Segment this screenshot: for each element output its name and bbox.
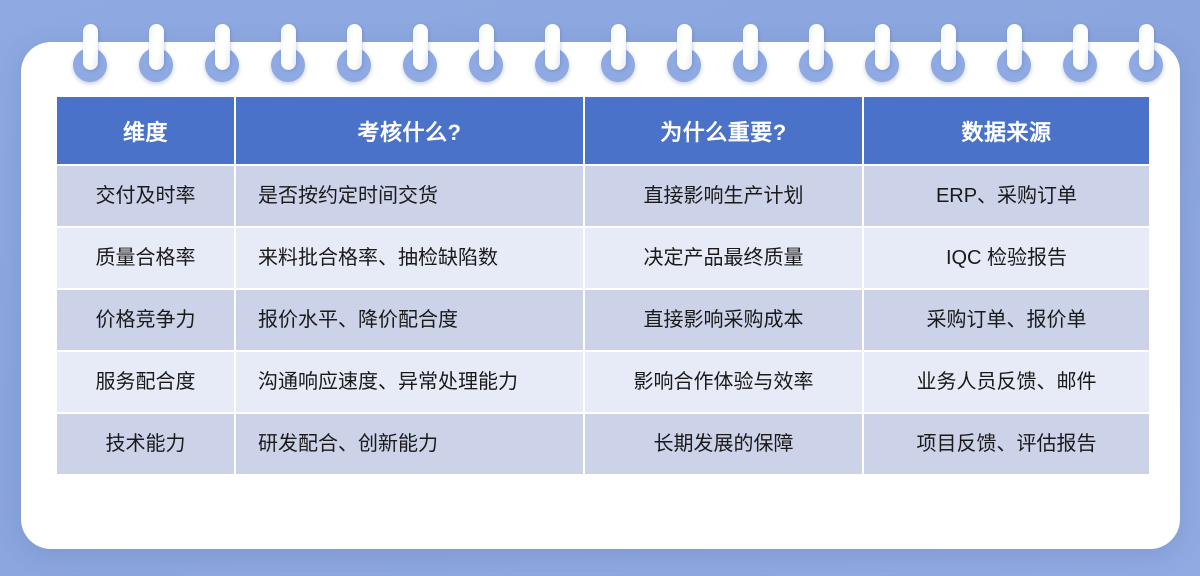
table-row: 质量合格率 来料批合格率、抽检缺陷数 决定产品最终质量 IQC 检验报告 [57, 228, 1149, 288]
cell-source: IQC 检验报告 [864, 228, 1149, 288]
cell-what: 来料批合格率、抽检缺陷数 [236, 228, 583, 288]
table-row: 价格竞争力 报价水平、降价配合度 直接影响采购成本 采购订单、报价单 [57, 290, 1149, 350]
column-header-source: 数据来源 [864, 97, 1149, 164]
cell-source: ERP、采购订单 [864, 166, 1149, 226]
cell-dimension: 价格竞争力 [57, 290, 234, 350]
cell-dimension: 质量合格率 [57, 228, 234, 288]
column-header-why: 为什么重要? [585, 97, 862, 164]
cell-dimension: 交付及时率 [57, 166, 234, 226]
column-header-dimension: 维度 [57, 97, 234, 164]
cell-what: 报价水平、降价配合度 [236, 290, 583, 350]
table-row: 技术能力 研发配合、创新能力 长期发展的保障 项目反馈、评估报告 [57, 414, 1149, 474]
table-row: 服务配合度 沟通响应速度、异常处理能力 影响合作体验与效率 业务人员反馈、邮件 [57, 352, 1149, 412]
cell-why: 影响合作体验与效率 [585, 352, 862, 412]
cell-why: 直接影响采购成本 [585, 290, 862, 350]
cell-source: 业务人员反馈、邮件 [864, 352, 1149, 412]
cell-what: 沟通响应速度、异常处理能力 [236, 352, 583, 412]
cell-dimension: 技术能力 [57, 414, 234, 474]
column-header-what: 考核什么? [236, 97, 583, 164]
cell-why: 决定产品最终质量 [585, 228, 862, 288]
cell-why: 直接影响生产计划 [585, 166, 862, 226]
cell-what: 是否按约定时间交货 [236, 166, 583, 226]
table-body: 交付及时率 是否按约定时间交货 直接影响生产计划 ERP、采购订单 质量合格率 … [57, 166, 1149, 474]
cell-source: 项目反馈、评估报告 [864, 414, 1149, 474]
cell-dimension: 服务配合度 [57, 352, 234, 412]
table-row: 交付及时率 是否按约定时间交货 直接影响生产计划 ERP、采购订单 [57, 166, 1149, 226]
cell-why: 长期发展的保障 [585, 414, 862, 474]
supplier-evaluation-table: 维度 考核什么? 为什么重要? 数据来源 交付及时率 是否按约定时间交货 直接影… [55, 95, 1151, 476]
cell-what: 研发配合、创新能力 [236, 414, 583, 474]
cell-source: 采购订单、报价单 [864, 290, 1149, 350]
table-header-row: 维度 考核什么? 为什么重要? 数据来源 [57, 97, 1149, 164]
table-header: 维度 考核什么? 为什么重要? 数据来源 [57, 97, 1149, 164]
